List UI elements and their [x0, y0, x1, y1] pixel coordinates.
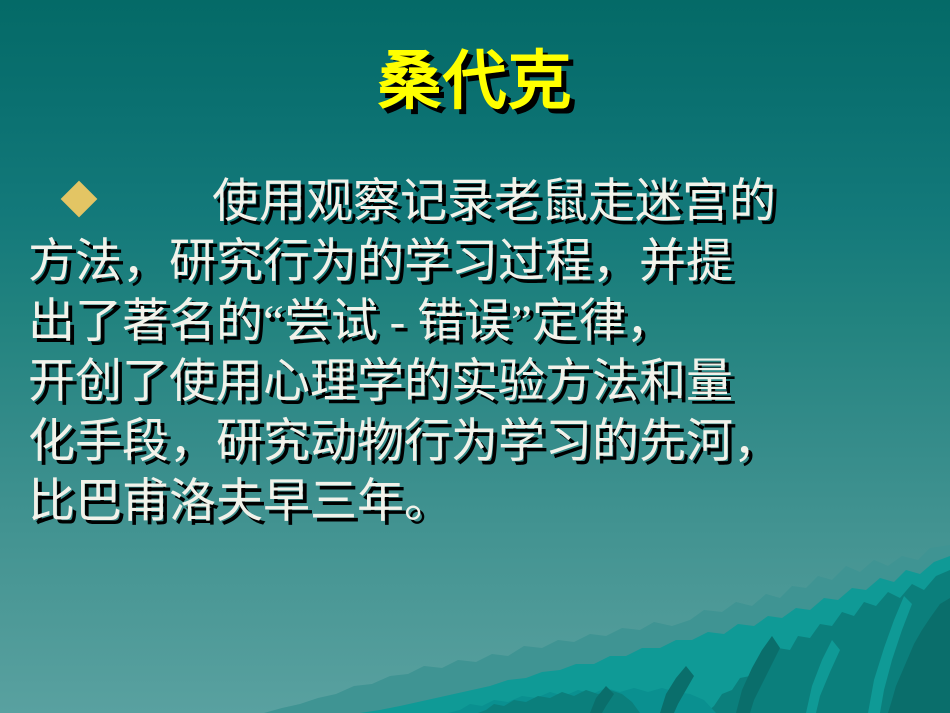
body-line-group: 使用观察记录老鼠走迷宫的 — [98, 172, 920, 232]
mountain-fold-b — [888, 598, 950, 713]
mountain-crevice-4 — [868, 596, 912, 713]
diamond-bullet-icon — [61, 181, 98, 218]
presentation-slide: 桑代克 使用观察记录老鼠走迷宫的 方法，研究行为的学习过程，并提 出了著名的“尝… — [0, 0, 950, 713]
mountain-ridge-mid — [360, 556, 950, 713]
body-line-5: 化手段，研究动物行为学习的先河， — [28, 412, 920, 472]
mountain-crevice-1 — [736, 636, 780, 713]
mountain-ridge-far — [264, 545, 950, 713]
mountain-crevice-3 — [590, 686, 614, 713]
slide-body: 使用观察记录老鼠走迷宫的 方法，研究行为的学习过程，并提 出了著名的“尝试 - … — [60, 172, 920, 532]
mountain-foothill-accent — [478, 690, 640, 713]
body-line-1: 使用观察记录老鼠走迷宫的 — [98, 172, 920, 232]
mountain-crevice-2 — [660, 666, 694, 713]
body-line-3: 出了著名的“尝试 - 错误”定律， — [28, 292, 920, 352]
slide-title: 桑代克 — [0, 48, 950, 115]
body-line-2: 方法，研究行为的学习过程，并提 — [28, 232, 920, 292]
bullet-paragraph: 使用观察记录老鼠走迷宫的 — [60, 172, 920, 232]
mountain-fold-a — [706, 570, 950, 713]
body-line-6: 比巴甫洛夫早三年。 — [28, 472, 920, 532]
mountain-foothills — [448, 688, 716, 713]
body-line-4: 开创了使用心理学的实验方法和量 — [28, 352, 920, 412]
mountain-crevice-5 — [806, 640, 840, 713]
body-line-group-rest: 方法，研究行为的学习过程，并提 出了著名的“尝试 - 错误”定律， 开创了使用心… — [28, 232, 920, 532]
